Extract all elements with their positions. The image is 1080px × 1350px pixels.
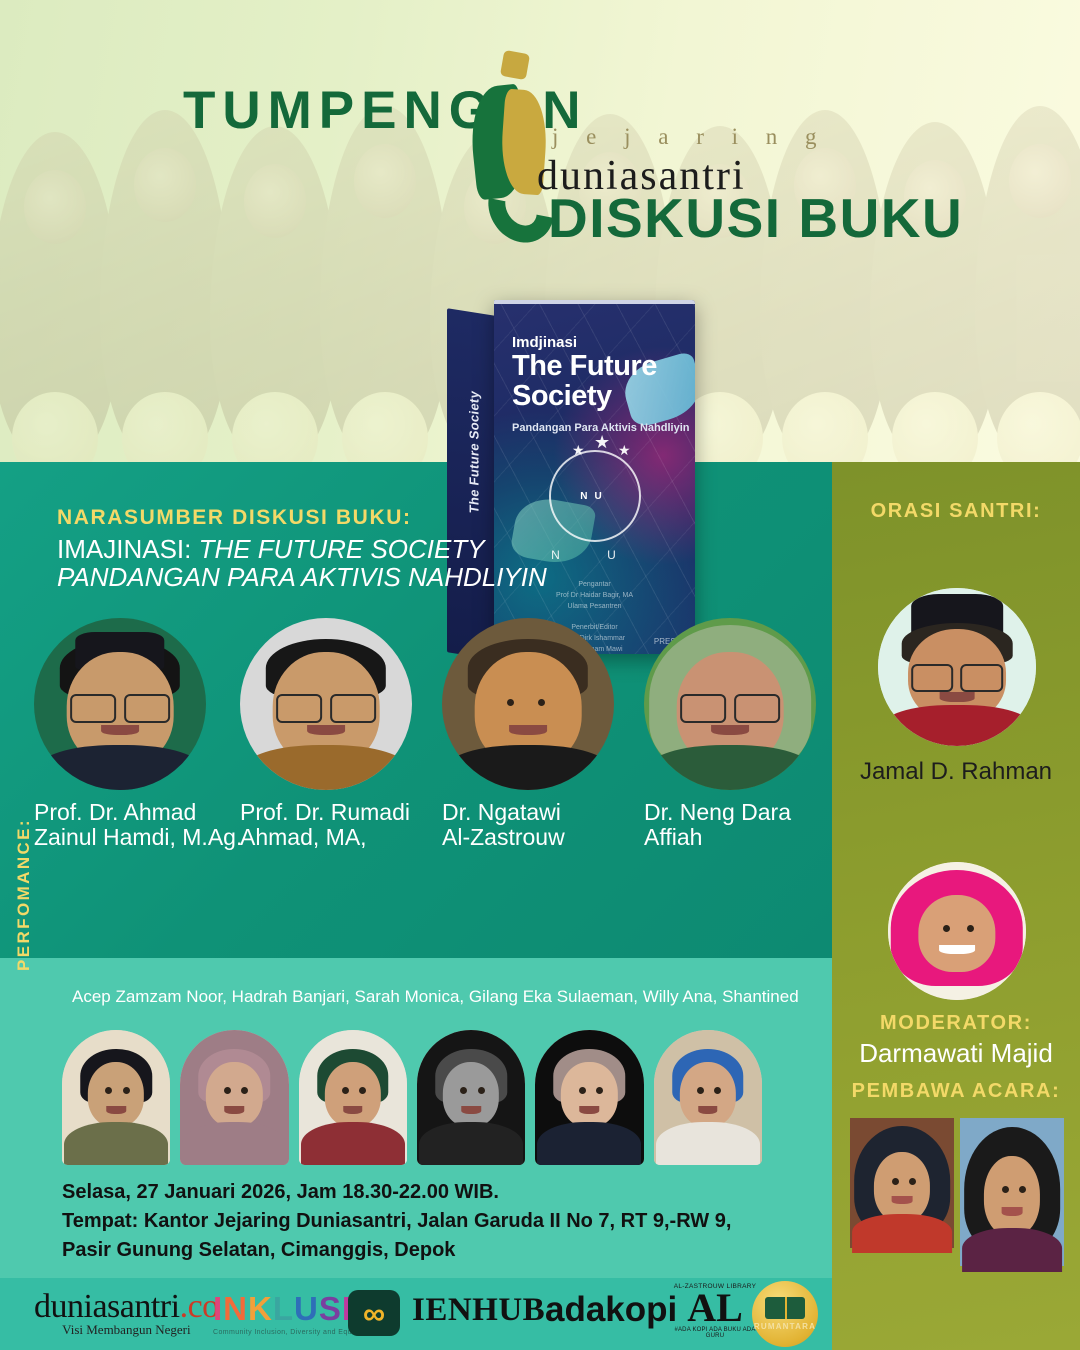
portrait-eye-left <box>342 1087 349 1094</box>
orasi-santri-name: Jamal D. Rahman <box>832 758 1080 786</box>
speaker-card: Dr. Neng Dara Affiah <box>644 618 816 850</box>
speaker-card: Prof. Dr. Rumadi Ahmad, MA, <box>240 618 412 850</box>
portrait-eye-right <box>241 1087 248 1094</box>
portrait-mouth <box>940 692 975 701</box>
inklusif-letter: S <box>319 1290 342 1327</box>
portrait-mouth <box>1002 1207 1023 1216</box>
portrait-clothing <box>37 745 202 790</box>
eyeglasses-icon <box>680 694 780 720</box>
portrait-face <box>88 1062 144 1127</box>
portrait <box>644 618 816 790</box>
logo-dot-shape <box>500 50 530 80</box>
inklusif-letter: I <box>213 1290 223 1327</box>
book-top-edge <box>494 300 695 304</box>
portrait <box>850 1118 954 1222</box>
portrait-mouth <box>307 725 345 735</box>
brand-kicker: j e j a r i n g <box>552 124 828 150</box>
book-cover-image: The Future Society Imdjinasi The Future … <box>447 300 695 660</box>
portrait <box>442 618 614 790</box>
event-venue-line-1: Tempat: Kantor Jejaring Duniasantri, Jal… <box>62 1207 731 1236</box>
mc-heading: PEMBAWA ACARA: <box>832 1080 1080 1103</box>
portrait <box>654 1030 762 1165</box>
portrait-face <box>206 1062 262 1127</box>
speaker-avatar <box>34 618 206 790</box>
portrait-mouth <box>343 1106 362 1114</box>
portrait-face <box>918 895 995 972</box>
portrait-jamal <box>878 588 1036 746</box>
infinity-glyph: ∞ <box>363 1298 385 1329</box>
portrait-mouth <box>101 725 139 735</box>
portrait-eye-right <box>123 1087 130 1094</box>
portrait-clothing <box>182 1122 286 1165</box>
duniasantri-wordmark: duniasantri.co <box>34 1288 219 1326</box>
portrait-clothing <box>537 1122 641 1165</box>
alzastrouw-library-logo[interactable]: AL-ZASTROUW LIBRARY AL #ADA KOPI ADA BUK… <box>672 1283 758 1339</box>
performance-names: Acep Zamzam Noor, Hadrah Banjari, Sarah … <box>72 987 799 1007</box>
portrait-clothing <box>419 1122 523 1165</box>
portrait-clothing <box>647 745 812 790</box>
book-spine: The Future Society <box>447 308 495 660</box>
book-title-line-2: PANDANGAN PARA AKTIVIS NAHDLIYIN <box>57 562 547 593</box>
mc-avatar <box>850 1118 954 1222</box>
ienhub-infinity-icon[interactable]: ∞ <box>348 1290 400 1336</box>
event-datetime: Selasa, 27 Januari 2026, Jam 18.30-22.00… <box>62 1178 731 1207</box>
portrait-eye-right <box>596 1087 603 1094</box>
portrait <box>62 1030 170 1165</box>
portrait <box>240 618 412 790</box>
book-star-icon: ★ <box>618 442 631 459</box>
portrait-clothing <box>656 1122 760 1165</box>
portrait-eye-left <box>105 1087 112 1094</box>
portrait-eye-left <box>224 1087 231 1094</box>
rumantara-wordmark: RUMANTARA <box>754 1322 816 1331</box>
moderator-name: Darmawati Majid <box>832 1038 1080 1069</box>
alzastrouw-bottom-text: #ADA KOPI ADA BUKU ADA GURU <box>672 1327 758 1339</box>
portrait-eye-right <box>359 1087 366 1094</box>
speaker-avatar <box>240 618 412 790</box>
portrait-clothing <box>301 1122 405 1165</box>
performance-photo-strip <box>62 1030 762 1165</box>
open-book-icon <box>765 1297 805 1319</box>
speaker-card: Dr. Ngatawi Al-Zastrouw <box>442 618 614 850</box>
portrait-darmawati <box>888 862 1026 1000</box>
right-sidebar: ORASI SANTRI: Jamal D. Rahman <box>832 462 1080 1350</box>
speaker-name: Prof. Dr. Ahmad Zainul Hamdi, M.Ag. <box>34 800 242 850</box>
book-title-italic: THE FUTURE SOCIETY <box>199 534 485 564</box>
nu-emblem-icon: NU <box>549 450 641 542</box>
book-spine-text: The Future Society <box>467 376 482 528</box>
portrait-mouth <box>580 1106 599 1114</box>
moderator-avatar <box>888 862 1026 1000</box>
mc-avatar <box>960 1118 1064 1222</box>
performance-photo <box>62 1030 170 1165</box>
poster-root: TUMPENGAN j e j a r i n g duniasantri DI… <box>0 0 1080 1350</box>
book-title-prefix: IMAJINASI: <box>57 534 199 564</box>
speaker-avatar <box>644 618 816 790</box>
duniasantri-word: duniasantri <box>34 1288 180 1325</box>
portrait-eye-left <box>460 1087 467 1094</box>
portrait-mouth <box>892 1196 913 1204</box>
alzastrouw-monogram: AL <box>672 1290 758 1326</box>
ienhub-wordmark[interactable]: IENHUB <box>412 1292 545 1329</box>
event-details: Selasa, 27 Januari 2026, Jam 18.30-22.00… <box>62 1178 731 1265</box>
rumantara-logo[interactable]: RUMANTARA <box>752 1281 818 1347</box>
book-front-cover: Imdjinasi The Future Society Pandangan P… <box>494 300 695 654</box>
portrait-mouth <box>461 1106 480 1114</box>
mc-card: Nayla Autar <box>850 1118 954 1248</box>
portrait-smile <box>939 945 975 955</box>
performance-photo <box>299 1030 407 1165</box>
portrait-mouth <box>698 1106 717 1114</box>
performance-photo <box>417 1030 525 1165</box>
portrait <box>535 1030 643 1165</box>
adakopi-wordmark[interactable]: adakopi <box>545 1290 677 1330</box>
portrait-eye-left <box>579 1087 586 1094</box>
portrait-clothing <box>243 745 408 790</box>
performance-photo <box>535 1030 643 1165</box>
inklusif-letter: L <box>273 1290 294 1327</box>
narasumber-heading: NARASUMBER DISKUSI BUKU: <box>57 506 412 530</box>
book-title-line-1: IMAJINASI: THE FUTURE SOCIETY <box>57 534 485 565</box>
portrait-clothing <box>881 705 1033 746</box>
inklusif-letter: N <box>223 1290 248 1327</box>
speaker-name: Dr. Neng Dara Affiah <box>644 800 816 850</box>
duniasantri-logo[interactable]: duniasantri.co Visi Membangun Negeri <box>34 1288 219 1338</box>
event-venue-line-2: Pasir Gunung Selatan, Cimanggis, Depok <box>62 1236 731 1265</box>
inklusif-letter: K <box>248 1290 273 1327</box>
inklusif-letter: U <box>294 1290 319 1327</box>
orasi-santri-avatar <box>878 588 1036 746</box>
portrait-eye-right <box>478 1087 485 1094</box>
speaker-name: Prof. Dr. Rumadi Ahmad, MA, <box>240 800 412 850</box>
portrait-face <box>874 1152 930 1222</box>
moderator-heading: MODERATOR: <box>832 1012 1080 1035</box>
portrait-clothing <box>445 745 610 790</box>
portrait-mouth <box>711 725 749 735</box>
duniasantri-tagline: Visi Membangun Negeri <box>34 1322 219 1338</box>
portrait-eye-left <box>892 1178 899 1185</box>
portrait <box>960 1118 1064 1222</box>
portrait-clothing <box>64 1122 168 1165</box>
portrait <box>34 618 206 790</box>
portrait <box>180 1030 288 1165</box>
portrait-face <box>561 1062 617 1127</box>
portrait-eye-right <box>714 1087 721 1094</box>
performance-photo <box>180 1030 288 1165</box>
eyeglasses-icon <box>911 664 1003 688</box>
speaker-card: Prof. Dr. Ahmad Zainul Hamdi, M.Ag. <box>34 618 242 850</box>
portrait-eye-left <box>697 1087 704 1094</box>
orasi-santri-heading: ORASI SANTRI: <box>832 500 1080 523</box>
speaker-avatar <box>442 618 614 790</box>
eyeglasses-icon <box>276 694 376 720</box>
portrait-mouth <box>106 1106 125 1114</box>
nu-emblem-label: N U <box>551 548 638 562</box>
portrait-face <box>325 1062 381 1127</box>
page-subtitle: DISKUSI BUKU <box>548 186 963 250</box>
performance-photo <box>654 1030 762 1165</box>
portrait-eye-left <box>1002 1186 1009 1193</box>
mc-card: Kayla Nareswa <box>960 1118 1064 1266</box>
portrait-face <box>680 1062 736 1127</box>
portrait-mouth <box>225 1106 244 1114</box>
portrait-face <box>443 1062 499 1127</box>
portrait-mouth <box>509 725 547 735</box>
book-title: The Future Society <box>512 352 657 411</box>
book-imprint-line: Imdjinasi <box>512 334 577 351</box>
eyeglasses-icon <box>70 694 170 720</box>
portrait <box>299 1030 407 1165</box>
speaker-name: Dr. Ngatawi Al-Zastrouw <box>442 800 614 850</box>
portrait <box>417 1030 525 1165</box>
